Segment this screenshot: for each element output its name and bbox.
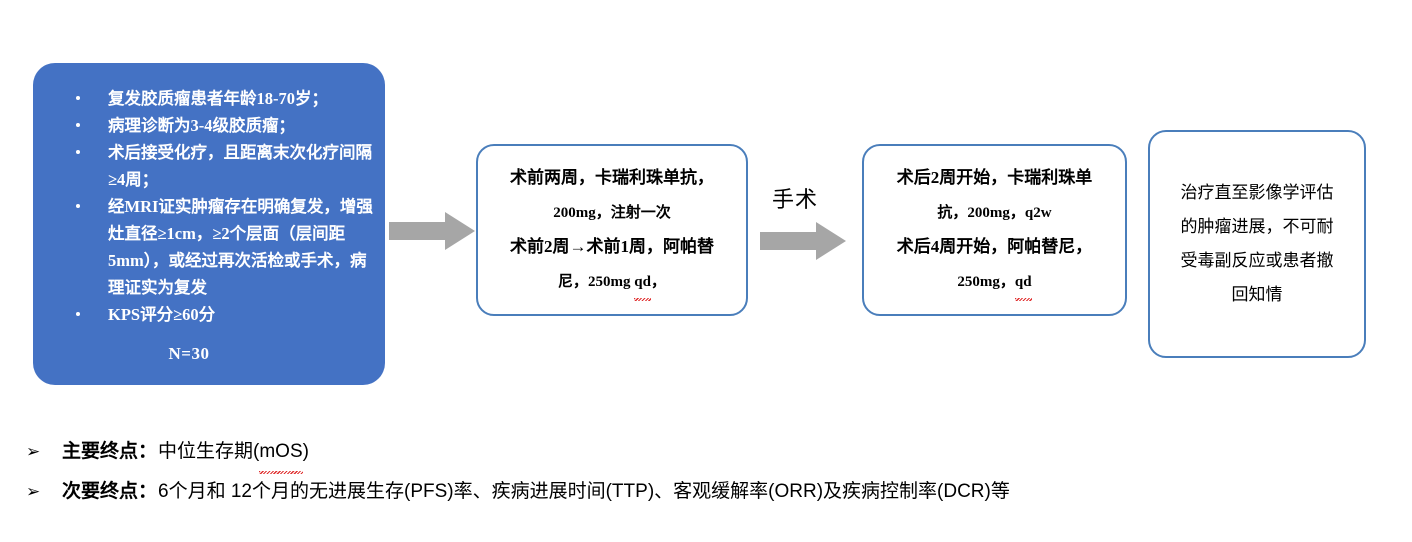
eligibility-criteria-box: 复发胶质瘤患者年龄18-70岁； 病理诊断为3-4级胶质瘤； 术后接受化疗，且距… <box>33 63 385 385</box>
surgery-step-label: 手术 <box>772 182 818 214</box>
criterion-text: 经MRI证实肿瘤存在明确复发，增强灶直径≥1cm，≥2个层面（层间距5mm），或… <box>108 197 373 297</box>
post-surgery-line-4-misspelled: qd <box>1015 265 1032 299</box>
post-surgery-line-2: 抗，200mg，q2w <box>937 205 1051 221</box>
arrow-right-icon <box>760 222 846 260</box>
bullet-dot-icon <box>76 123 80 127</box>
post-surgery-line-1: 术后2周开始，卡瑞利珠单 <box>897 168 1093 187</box>
bullet-dot-icon <box>76 150 80 154</box>
primary-endpoint-row: ➢ 主要终点： 中位生存期(mOS) <box>26 432 1366 472</box>
primary-endpoint-label: 主要终点： <box>62 432 157 472</box>
list-item: 经MRI证实肿瘤存在明确复发，增强灶直径≥1cm，≥2个层面（层间距5mm），或… <box>33 193 375 301</box>
list-item: 术后接受化疗，且距离末次化疗间隔≥4周； <box>33 139 375 193</box>
eligibility-criteria-list: 复发胶质瘤患者年龄18-70岁； 病理诊断为3-4级胶质瘤； 术后接受化疗，且距… <box>33 85 375 328</box>
bullet-dot-icon <box>76 96 80 100</box>
secondary-endpoint-label: 次要终点： <box>62 472 157 512</box>
pre-surgery-treatment-box: 术前两周，卡瑞利珠单抗， 200mg，注射一次 术前2周→术前1周，阿帕替 尼，… <box>476 144 748 316</box>
arrowhead-bullet-icon: ➢ <box>26 432 62 472</box>
primary-endpoint-value-suffix: ) <box>303 441 309 462</box>
secondary-endpoint-row: ➢ 次要终点： 6个月和 12个月的无进展生存(PFS)率、疾病进展时间(TTP… <box>26 472 1366 512</box>
secondary-endpoint-value: 6个月和 12个月的无进展生存(PFS)率、疾病进展时间(TTP)、客观缓解率(… <box>158 472 1010 512</box>
study-design-flow-diagram: 复发胶质瘤患者年龄18-70岁； 病理诊断为3-4级胶质瘤； 术后接受化疗，且距… <box>0 0 1412 542</box>
post-surgery-treatment-box: 术后2周开始，卡瑞利珠单 抗，200mg，q2w 术后4周开始，阿帕替尼， 25… <box>862 144 1127 316</box>
bullet-dot-icon <box>76 204 80 208</box>
post-surgery-line-4-prefix: 250mg， <box>957 274 1015 290</box>
followup-line-3: 受毒副反应或患者撤 <box>1181 251 1334 270</box>
criterion-text: KPS评分≥60分 <box>108 305 215 324</box>
criterion-text: 术后接受化疗，且距离末次化疗间隔≥4周； <box>108 143 372 189</box>
primary-endpoint-value-prefix: 中位生存期( <box>158 441 259 462</box>
pre-surgery-line-2: 200mg，注射一次 <box>553 205 671 221</box>
followup-line-2: 的肿瘤进展，不可耐 <box>1181 217 1334 236</box>
sample-size-label: N=30 <box>33 344 375 364</box>
pre-surgery-line-4-prefix: 尼，250mg <box>558 274 634 290</box>
arrow-right-icon <box>389 212 475 250</box>
pre-surgery-line-4-misspelled: qd <box>634 265 651 299</box>
list-item: 病理诊断为3-4级胶质瘤； <box>33 112 375 139</box>
pre-surgery-line-1: 术前两周，卡瑞利珠单抗， <box>510 168 714 187</box>
pre-surgery-treatment-text: 术前两周，卡瑞利珠单抗， 200mg，注射一次 术前2周→术前1周，阿帕替 尼，… <box>502 161 722 299</box>
pre-surgery-line-4: 尼，250mg qd， <box>558 274 666 290</box>
pre-surgery-line-3: 术前2周→术前1周，阿帕替 <box>510 237 714 256</box>
followup-line-1: 治疗直至影像学评估 <box>1181 183 1334 202</box>
arrowhead-bullet-icon: ➢ <box>26 472 62 512</box>
post-surgery-treatment-text: 术后2周开始，卡瑞利珠单 抗，200mg，q2w 术后4周开始，阿帕替尼， 25… <box>889 161 1101 299</box>
pre-surgery-line-4-suffix: ， <box>651 274 666 290</box>
followup-until-progression-box: 治疗直至影像学评估 的肿瘤进展，不可耐 受毒副反应或患者撤 回知情 <box>1148 130 1366 358</box>
list-item: 复发胶质瘤患者年龄18-70岁； <box>33 85 375 112</box>
primary-endpoint-value: 中位生存期(mOS) <box>158 432 309 472</box>
followup-text: 治疗直至影像学评估 的肿瘤进展，不可耐 受毒副反应或患者撤 回知情 <box>1167 176 1348 312</box>
primary-endpoint-value-misspelled: mOS <box>259 432 302 472</box>
criterion-text: 复发胶质瘤患者年龄18-70岁； <box>108 89 328 108</box>
bullet-dot-icon <box>76 312 80 316</box>
criterion-text: 病理诊断为3-4级胶质瘤； <box>108 116 295 135</box>
list-item: KPS评分≥60分 <box>33 301 375 328</box>
post-surgery-line-3: 术后4周开始，阿帕替尼， <box>897 237 1093 256</box>
endpoints-section: ➢ 主要终点： 中位生存期(mOS) ➢ 次要终点： 6个月和 12个月的无进展… <box>26 432 1366 512</box>
post-surgery-line-4: 250mg，qd <box>957 274 1031 290</box>
followup-line-4: 回知情 <box>1232 285 1283 304</box>
